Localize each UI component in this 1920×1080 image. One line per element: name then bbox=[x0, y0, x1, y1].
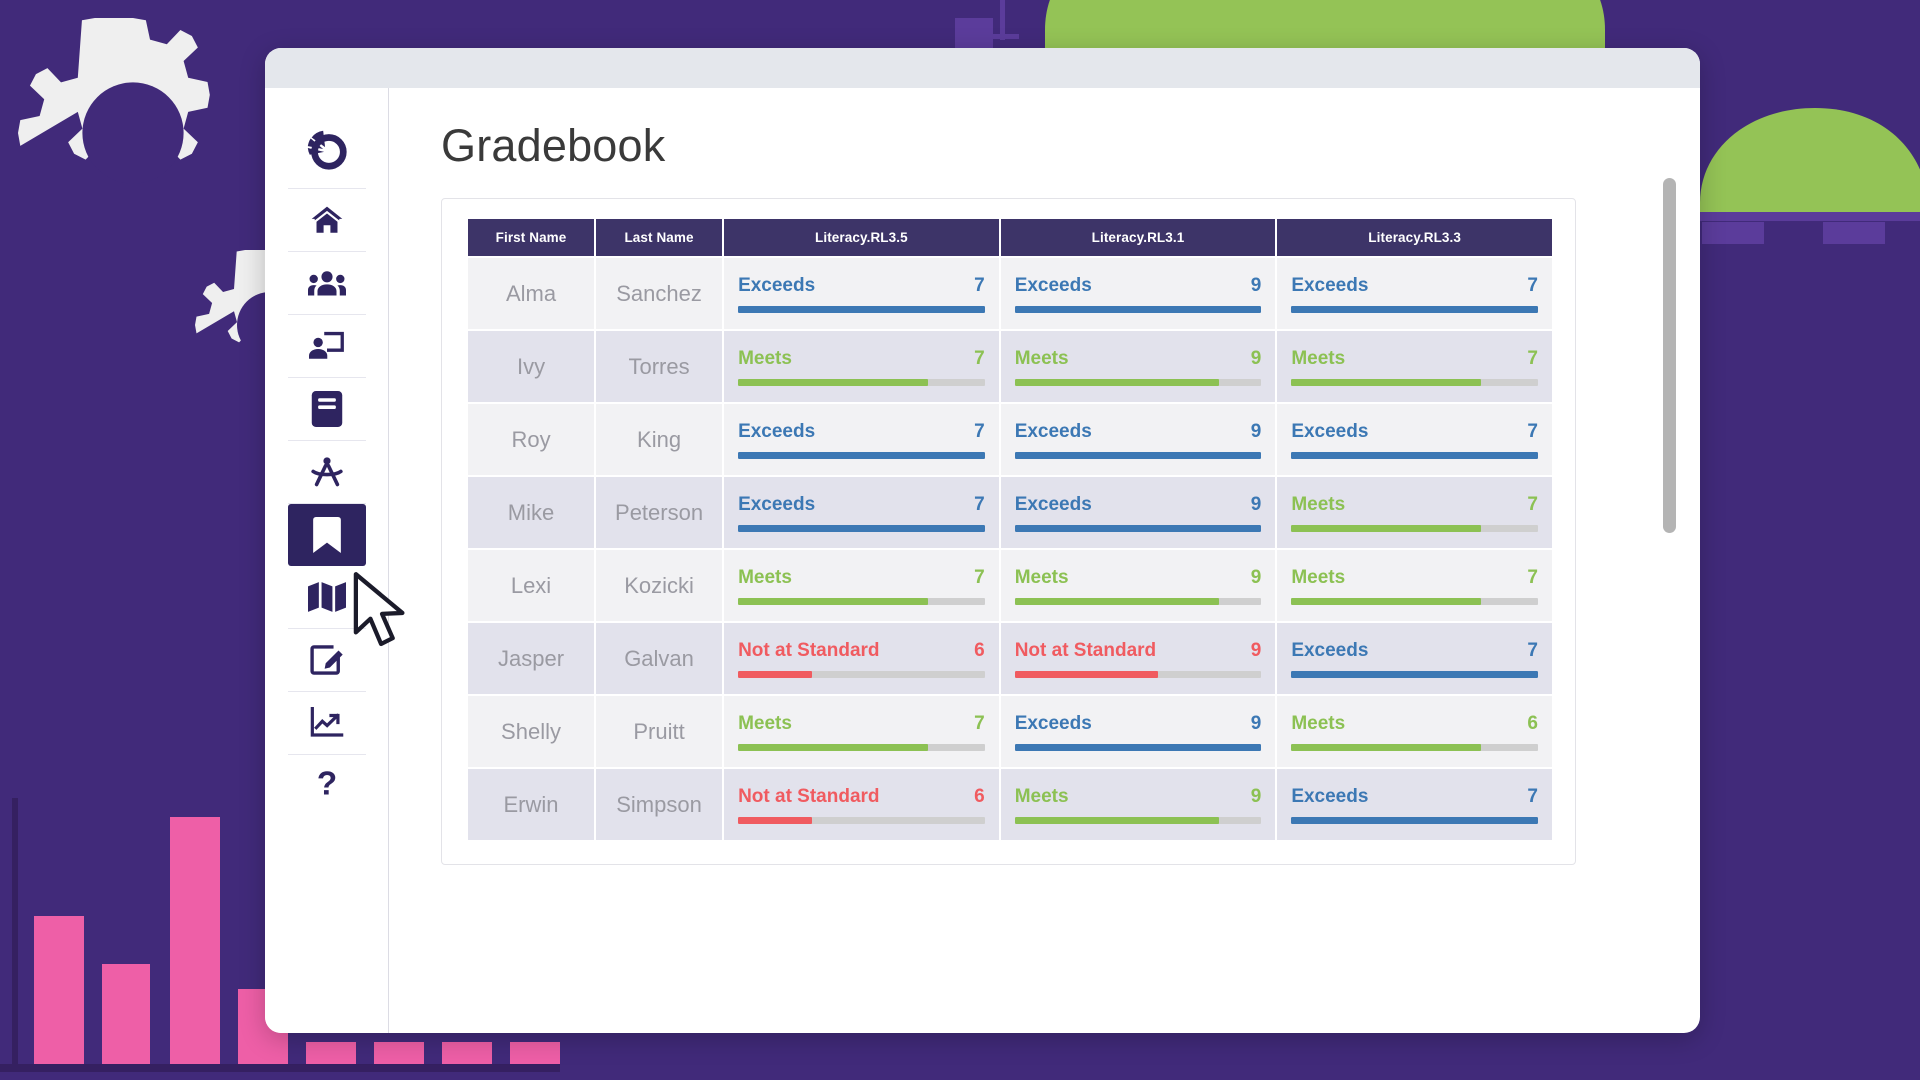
cell-last-name: Simpson bbox=[596, 769, 722, 840]
performance-level-label: Exceeds bbox=[1291, 275, 1368, 297]
score-value: 6 bbox=[1527, 713, 1538, 735]
chart-y-axis bbox=[12, 798, 18, 1066]
column-header-first-name[interactable]: First Name bbox=[468, 219, 594, 256]
performance-level-label: Exceeds bbox=[1015, 494, 1092, 516]
score-value: 7 bbox=[1527, 786, 1538, 808]
decor-tick-horizontal bbox=[985, 34, 1019, 39]
performance-level-label: Meets bbox=[1015, 786, 1069, 808]
cell-standard-score[interactable]: Exceeds9 bbox=[1001, 258, 1276, 329]
mouse-cursor bbox=[352, 572, 414, 655]
score-value: 7 bbox=[1527, 640, 1538, 662]
sidebar-item-home[interactable] bbox=[288, 189, 366, 251]
score-value: 6 bbox=[974, 640, 985, 662]
sidebar: ? bbox=[265, 88, 389, 1033]
progress-bar-track bbox=[1015, 306, 1262, 313]
chart-strip bbox=[510, 1042, 560, 1064]
performance-level-label: Exceeds bbox=[738, 494, 815, 516]
sidebar-item-classroom[interactable] bbox=[288, 315, 366, 377]
cell-last-name: Sanchez bbox=[596, 258, 722, 329]
score-value: 9 bbox=[1251, 713, 1262, 735]
table-body: AlmaSanchezExceeds7Exceeds9Exceeds7IvyTo… bbox=[468, 258, 1552, 840]
cell-standard-score[interactable]: Meets7 bbox=[724, 550, 999, 621]
cell-standard-score[interactable]: Not at Standard6 bbox=[724, 623, 999, 694]
presentation-icon bbox=[309, 329, 345, 363]
score-value: 9 bbox=[1251, 567, 1262, 589]
score-value: 7 bbox=[1527, 494, 1538, 516]
chart-bar bbox=[34, 916, 84, 1064]
progress-bar-fill bbox=[738, 306, 985, 313]
progress-bar-fill bbox=[1291, 306, 1538, 313]
cell-first-name: Erwin bbox=[468, 769, 594, 840]
gradebook-table: First NameLast NameLiteracy.RL3.5Literac… bbox=[466, 217, 1554, 842]
sidebar-item-assessments[interactable] bbox=[288, 441, 366, 503]
score-value: 7 bbox=[1527, 421, 1538, 443]
donut-chart-logo-icon bbox=[304, 126, 350, 172]
performance-level-label: Exceeds bbox=[1015, 421, 1092, 443]
progress-bar-track bbox=[1291, 817, 1538, 824]
progress-bar-track bbox=[1015, 379, 1262, 386]
decor-square-2 bbox=[1702, 222, 1764, 244]
progress-bar-fill bbox=[1291, 744, 1481, 751]
progress-bar-fill bbox=[1291, 598, 1481, 605]
column-header-literacy-rl3-3[interactable]: Literacy.RL3.3 bbox=[1277, 219, 1552, 256]
score-value: 7 bbox=[974, 421, 985, 443]
score-value: 7 bbox=[1527, 348, 1538, 370]
edit-square-icon bbox=[310, 643, 344, 677]
cell-first-name: Alma bbox=[468, 258, 594, 329]
progress-bar-track bbox=[1291, 671, 1538, 678]
cell-standard-score[interactable]: Meets7 bbox=[724, 331, 999, 402]
table-row[interactable]: AlmaSanchezExceeds7Exceeds9Exceeds7 bbox=[468, 258, 1552, 329]
cell-standard-score[interactable]: Exceeds9 bbox=[1001, 696, 1276, 767]
progress-bar-fill bbox=[738, 598, 928, 605]
progress-bar-track bbox=[738, 306, 985, 313]
performance-level-label: Meets bbox=[738, 567, 792, 589]
chart-bar bbox=[102, 964, 150, 1064]
score-value: 7 bbox=[974, 567, 985, 589]
progress-bar-track bbox=[1291, 306, 1538, 313]
progress-bar-fill bbox=[1291, 671, 1538, 678]
progress-bar-fill bbox=[738, 817, 812, 824]
performance-level-label: Not at Standard bbox=[738, 786, 879, 808]
progress-bar-track bbox=[1015, 671, 1262, 678]
score-value: 7 bbox=[974, 494, 985, 516]
cell-standard-score[interactable]: Exceeds7 bbox=[1277, 769, 1552, 840]
performance-level-label: Meets bbox=[1015, 567, 1069, 589]
home-icon bbox=[310, 203, 344, 237]
score-value: 9 bbox=[1251, 640, 1262, 662]
table-row[interactable]: JasperGalvanNot at Standard6Not at Stand… bbox=[468, 623, 1552, 694]
progress-bar-fill bbox=[738, 744, 928, 751]
progress-bar-fill bbox=[738, 379, 928, 386]
cell-standard-score[interactable]: Meets7 bbox=[1277, 331, 1552, 402]
performance-level-label: Meets bbox=[1015, 348, 1069, 370]
progress-bar-fill bbox=[1015, 817, 1220, 824]
cell-standard-score[interactable]: Exceeds7 bbox=[724, 477, 999, 548]
bookmark-icon bbox=[312, 517, 342, 553]
progress-bar-fill bbox=[1291, 525, 1481, 532]
progress-bar-track bbox=[1015, 744, 1262, 751]
score-value: 9 bbox=[1251, 275, 1262, 297]
progress-bar-track bbox=[738, 671, 985, 678]
table-row[interactable]: IvyTorresMeets7Meets9Meets7 bbox=[468, 331, 1552, 402]
table-row[interactable]: LexiKozickiMeets7Meets9Meets7 bbox=[468, 550, 1552, 621]
cell-first-name: Lexi bbox=[468, 550, 594, 621]
chart-strip bbox=[374, 1042, 424, 1064]
progress-bar-fill bbox=[1291, 817, 1538, 824]
progress-bar-track bbox=[1291, 379, 1538, 386]
cell-standard-score[interactable]: Exceeds7 bbox=[724, 258, 999, 329]
progress-bar-track bbox=[1291, 452, 1538, 459]
progress-bar-track bbox=[738, 817, 985, 824]
cell-last-name: Torres bbox=[596, 331, 722, 402]
cell-standard-score[interactable]: Meets7 bbox=[1277, 477, 1552, 548]
performance-level-label: Not at Standard bbox=[738, 640, 879, 662]
progress-bar-fill bbox=[1015, 671, 1158, 678]
table-header: First NameLast NameLiteracy.RL3.5Literac… bbox=[468, 219, 1552, 256]
cell-first-name: Mike bbox=[468, 477, 594, 548]
cell-first-name: Shelly bbox=[468, 696, 594, 767]
score-value: 7 bbox=[974, 275, 985, 297]
performance-level-label: Exceeds bbox=[738, 275, 815, 297]
table-row[interactable]: ErwinSimpsonNot at Standard6Meets9Exceed… bbox=[468, 769, 1552, 840]
performance-level-label: Not at Standard bbox=[1015, 640, 1156, 662]
performance-level-label: Exceeds bbox=[738, 421, 815, 443]
performance-level-label: Meets bbox=[1291, 494, 1345, 516]
chart-bar bbox=[170, 817, 220, 1064]
column-header-literacy-rl3-1[interactable]: Literacy.RL3.1 bbox=[1001, 219, 1276, 256]
table-header-row: First NameLast NameLiteracy.RL3.5Literac… bbox=[468, 219, 1552, 256]
cell-last-name: Galvan bbox=[596, 623, 722, 694]
cell-last-name: Kozicki bbox=[596, 550, 722, 621]
progress-bar-track bbox=[1291, 744, 1538, 751]
sidebar-item-curriculum[interactable] bbox=[288, 378, 366, 440]
cell-standard-score[interactable]: Not at Standard9 bbox=[1001, 623, 1276, 694]
cell-standard-score[interactable]: Exceeds7 bbox=[1277, 623, 1552, 694]
progress-bar-track bbox=[738, 379, 985, 386]
table-row[interactable]: ShellyPruittMeets7Exceeds9Meets6 bbox=[468, 696, 1552, 767]
progress-bar-fill bbox=[738, 525, 985, 532]
chart-x-axis bbox=[0, 1064, 560, 1072]
progress-bar-track bbox=[1015, 817, 1262, 824]
window-title-bar bbox=[265, 48, 1700, 88]
app-window: ? Gradebook First NameLast NameLiteracy.… bbox=[265, 48, 1700, 1033]
users-icon bbox=[308, 264, 346, 302]
score-value: 9 bbox=[1251, 348, 1262, 370]
cell-standard-score[interactable]: Meets7 bbox=[724, 696, 999, 767]
progress-bar-fill bbox=[738, 671, 812, 678]
cell-standard-score[interactable]: Exceeds7 bbox=[724, 404, 999, 475]
performance-level-label: Meets bbox=[1291, 567, 1345, 589]
performance-level-label: Exceeds bbox=[1015, 713, 1092, 735]
progress-bar-track bbox=[1291, 525, 1538, 532]
progress-bar-fill bbox=[1015, 379, 1220, 386]
progress-bar-fill bbox=[1015, 598, 1220, 605]
sidebar-item-gradebook[interactable] bbox=[288, 504, 366, 566]
sidebar-item-reports[interactable] bbox=[288, 692, 366, 754]
chart-strip bbox=[306, 1042, 356, 1064]
score-value: 7 bbox=[1527, 567, 1538, 589]
progress-bar-track bbox=[1291, 598, 1538, 605]
cell-standard-score[interactable]: Exceeds7 bbox=[1277, 258, 1552, 329]
sidebar-item-logo[interactable] bbox=[288, 110, 366, 188]
cell-first-name: Jasper bbox=[468, 623, 594, 694]
cell-standard-score[interactable]: Exceeds7 bbox=[1277, 404, 1552, 475]
performance-level-label: Exceeds bbox=[1291, 640, 1368, 662]
performance-level-label: Exceeds bbox=[1291, 786, 1368, 808]
cell-standard-score[interactable]: Exceeds9 bbox=[1001, 404, 1276, 475]
progress-bar-track bbox=[738, 744, 985, 751]
vertical-scrollbar[interactable] bbox=[1663, 178, 1676, 533]
page-title: Gradebook bbox=[441, 120, 1700, 172]
progress-bar-track bbox=[1015, 525, 1262, 532]
cell-first-name: Roy bbox=[468, 404, 594, 475]
progress-bar-track bbox=[738, 525, 985, 532]
question-mark-icon: ? bbox=[314, 768, 340, 804]
progress-bar-fill bbox=[1015, 525, 1262, 532]
score-value: 9 bbox=[1251, 494, 1262, 516]
performance-level-label: Exceeds bbox=[1015, 275, 1092, 297]
sidebar-item-help[interactable]: ? bbox=[288, 755, 366, 817]
cell-standard-score[interactable]: Meets9 bbox=[1001, 331, 1276, 402]
cell-standard-score[interactable]: Meets7 bbox=[1277, 550, 1552, 621]
progress-bar-track bbox=[738, 452, 985, 459]
cell-first-name: Ivy bbox=[468, 331, 594, 402]
progress-bar-fill bbox=[1291, 379, 1481, 386]
progress-bar-fill bbox=[1015, 452, 1262, 459]
progress-bar-track bbox=[1015, 452, 1262, 459]
score-value: 7 bbox=[1527, 275, 1538, 297]
performance-level-label: Meets bbox=[738, 713, 792, 735]
progress-bar-fill bbox=[1291, 452, 1538, 459]
progress-bar-fill bbox=[738, 452, 985, 459]
performance-level-label: Meets bbox=[1291, 713, 1345, 735]
main-content: Gradebook First NameLast NameLiteracy.RL… bbox=[389, 88, 1700, 1033]
cell-standard-score[interactable]: Exceeds9 bbox=[1001, 477, 1276, 548]
map-icon bbox=[308, 582, 346, 612]
performance-level-label: Meets bbox=[1291, 348, 1345, 370]
performance-level-label: Meets bbox=[738, 348, 792, 370]
column-header-literacy-rl3-5[interactable]: Literacy.RL3.5 bbox=[724, 219, 999, 256]
score-value: 7 bbox=[974, 348, 985, 370]
score-value: 7 bbox=[974, 713, 985, 735]
decor-square-3 bbox=[1823, 222, 1885, 244]
gradebook-card: First NameLast NameLiteracy.RL3.5Literac… bbox=[441, 198, 1576, 865]
cell-standard-score[interactable]: Meets9 bbox=[1001, 769, 1276, 840]
cell-last-name: Peterson bbox=[596, 477, 722, 548]
decor-square-1 bbox=[955, 18, 993, 48]
cell-last-name: King bbox=[596, 404, 722, 475]
progress-bar-track bbox=[1015, 598, 1262, 605]
performance-level-label: Exceeds bbox=[1291, 421, 1368, 443]
cell-standard-score[interactable]: Not at Standard6 bbox=[724, 769, 999, 840]
book-icon bbox=[311, 391, 343, 427]
progress-bar-fill bbox=[1015, 744, 1262, 751]
green-hill-small bbox=[1700, 108, 1920, 225]
chart-strip bbox=[442, 1042, 492, 1064]
line-chart-icon bbox=[309, 707, 345, 739]
table-row[interactable]: MikePetersonExceeds7Exceeds9Meets7 bbox=[468, 477, 1552, 548]
sidebar-item-students[interactable] bbox=[288, 252, 366, 314]
cell-standard-score[interactable]: Meets6 bbox=[1277, 696, 1552, 767]
score-value: 9 bbox=[1251, 786, 1262, 808]
table-row[interactable]: RoyKingExceeds7Exceeds9Exceeds7 bbox=[468, 404, 1552, 475]
progress-bar-fill bbox=[1015, 306, 1262, 313]
cell-last-name: Pruitt bbox=[596, 696, 722, 767]
gear-large-icon bbox=[18, 18, 248, 253]
progress-bar-track bbox=[738, 598, 985, 605]
column-header-last-name[interactable]: Last Name bbox=[596, 219, 722, 256]
svg-text:?: ? bbox=[316, 768, 336, 802]
score-value: 6 bbox=[974, 786, 985, 808]
score-value: 9 bbox=[1251, 421, 1262, 443]
compass-icon bbox=[309, 455, 345, 489]
cell-standard-score[interactable]: Meets9 bbox=[1001, 550, 1276, 621]
